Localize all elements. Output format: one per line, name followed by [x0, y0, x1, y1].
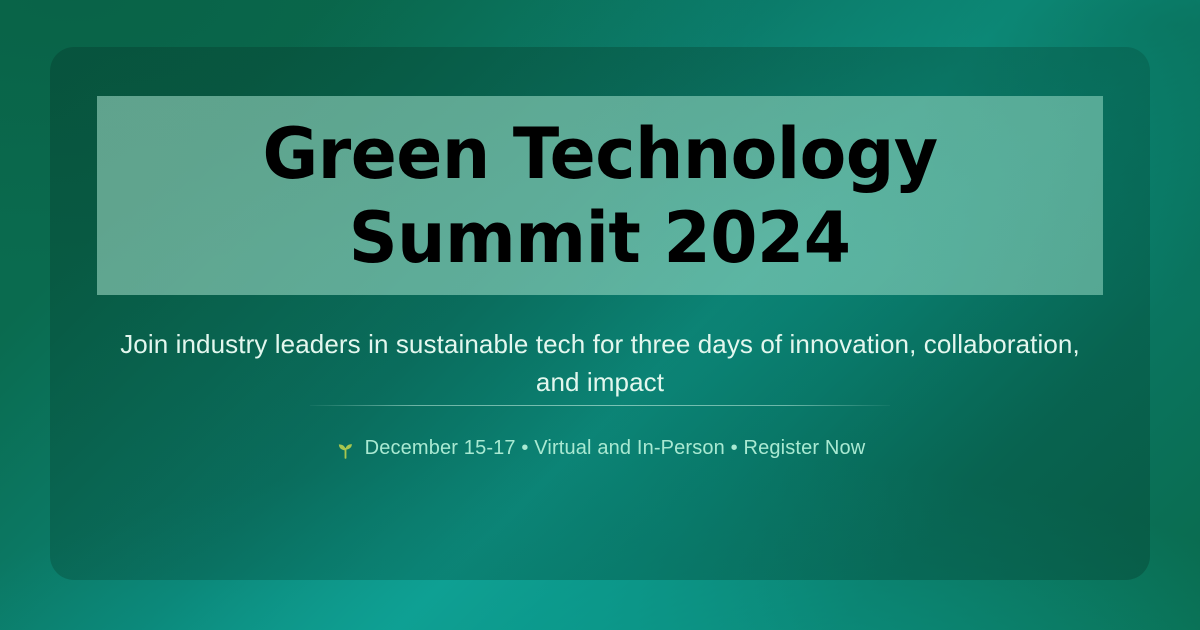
subtitle-text: Join industry leaders in sustainable tec…: [97, 325, 1103, 401]
title-banner: Green Technology Summit 2024: [97, 96, 1103, 295]
content-card: Green Technology Summit 2024 Join indust…: [50, 47, 1150, 580]
divider: [310, 405, 890, 406]
sprout-icon: [335, 439, 356, 460]
page-title-line-2: Summit 2024: [349, 196, 851, 280]
event-meta-line: December 15-17 • Virtual and In-Person •…: [50, 437, 1150, 460]
event-meta-text: December 15-17 • Virtual and In-Person •…: [365, 437, 866, 460]
page-title-line-1: Green Technology: [262, 112, 937, 196]
